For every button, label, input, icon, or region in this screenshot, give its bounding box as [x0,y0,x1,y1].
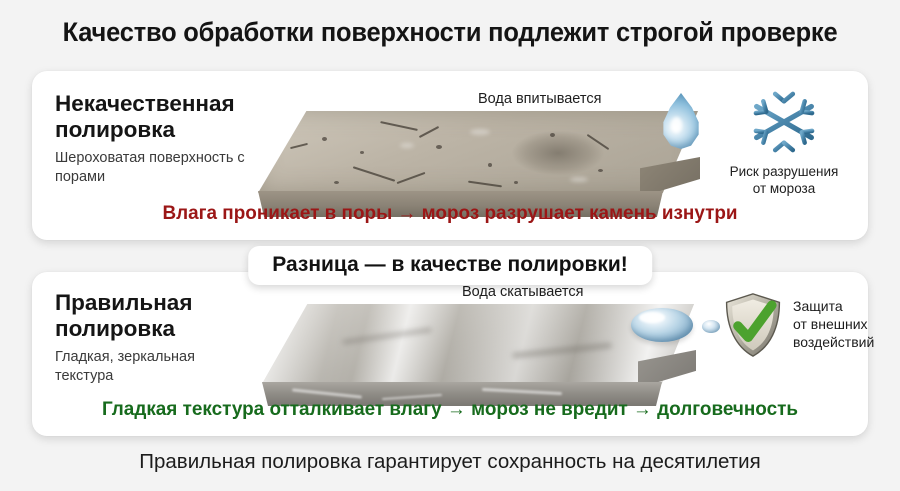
divider-banner: Разница — в качестве полировки! [248,246,652,285]
frost-risk-block: Риск разрушения от мороза [700,85,868,198]
page-title: Качество обработки поверхности подлежит … [18,17,882,48]
bad-card-caption: Влага проникает в поры → мороз разрушает… [45,202,856,225]
bad-water-label: Вода впитывается [478,91,601,107]
pore-mark [550,133,555,137]
pore-mark [488,163,492,167]
water-bead-icon [631,308,693,342]
good-card-caption: Гладкая текстура отталкивает влагу → мор… [45,398,856,421]
infographic-root: Качество обработки поверхности подлежит … [0,0,900,491]
protection-line3: воздействий [793,334,874,352]
good-polishing-card: Правильная полировка Гладкая, зеркальная… [32,272,868,436]
footer-text: Правильная полировка гарантирует сохранн… [0,450,900,474]
water-bead-small-icon [702,320,720,333]
polished-slab-top-face [262,304,694,384]
protection-label: Защита от внешних воздействий [793,298,874,352]
protection-line1: Защита [793,298,874,316]
pore-mark [436,145,442,149]
pore-mark [598,169,603,172]
protection-line2: от внешних [793,316,874,334]
pore-mark [360,151,364,154]
snowflake-icon [747,85,821,159]
stone-speck [400,143,414,148]
stone-speck [470,129,490,135]
pore-mark [322,137,327,141]
good-card-heading: Правильная полировка [55,290,255,342]
rough-slab-top-face [258,111,698,193]
pore-mark [334,181,339,184]
frost-risk-line2: от мороза [700,180,868,197]
bad-polishing-card: Некачественная полировка Шероховатая пов… [32,71,868,240]
frost-risk-line1: Риск разрушения [700,163,868,180]
shield-check-icon [722,292,784,358]
protection-block: Защита от внешних воздействий [722,292,900,358]
good-card-subtext: Гладкая, зеркальная текстура [55,348,235,386]
stone-speck [570,177,588,182]
frost-risk-label: Риск разрушения от мороза [700,163,868,198]
pore-mark [514,181,518,184]
